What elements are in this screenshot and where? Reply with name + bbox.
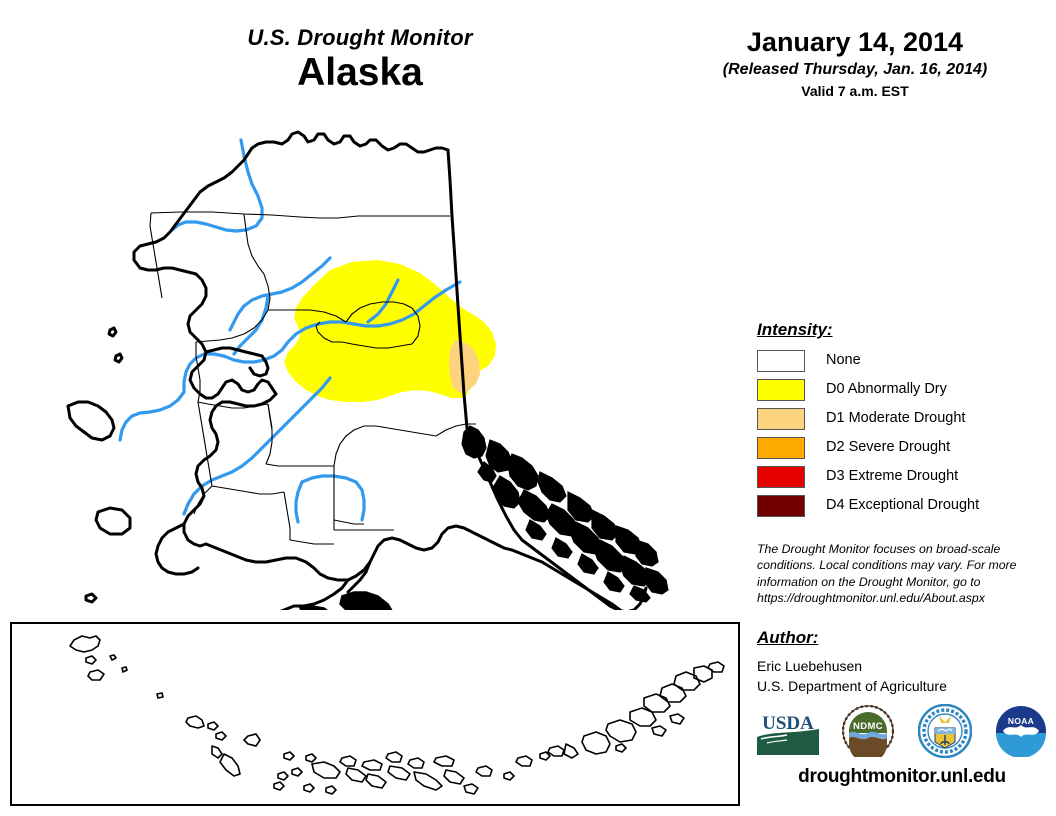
svg-text:USDA: USDA [762,713,814,734]
legend-swatch-d1 [757,408,805,430]
legend-row-d1[interactable]: D1 Moderate Drought [757,404,1047,433]
region-title: Alaska [150,51,570,95]
noaa-logo[interactable]: NOAA [995,705,1047,762]
legend-label-d0: D0 Abnormally Dry [826,382,947,397]
ndmc-logo[interactable]: NDMC [842,705,894,762]
legend-row-none[interactable]: None [757,346,1047,375]
release-date: (Released Thursday, Jan. 16, 2014) [690,59,1020,81]
kodiak-island [300,592,394,610]
disclaimer-text: The Drought Monitor focuses on broad-sca… [757,541,1047,606]
legend-row-d3[interactable]: D3 Extreme Drought [757,462,1047,491]
author-affiliation: U.S. Department of Agriculture [757,677,1047,697]
author-name: Eric Luebehusen [757,657,1047,677]
usda-logo[interactable]: USDA [757,707,819,760]
map-date: January 14, 2014 [690,28,1020,58]
legend-title: Intensity: [757,320,1047,340]
date-block: January 14, 2014 (Released Thursday, Jan… [690,28,1020,101]
author-block: Author: Eric Luebehusen U.S. Department … [757,628,1047,697]
disclaimer-line-1: The Drought Monitor focuses on broad-sca… [757,541,1047,557]
svg-text:NDMC: NDMC [853,721,883,732]
disclaimer-line-3: information on the Drought Monitor, go t… [757,574,1047,590]
legend-row-d2[interactable]: D2 Severe Drought [757,433,1047,462]
agency-logos: USDA NDMC [757,704,1047,762]
legend-swatch-none [757,350,805,372]
legend-swatch-d2 [757,437,805,459]
disclaimer-link[interactable]: https://droughtmonitor.unl.edu/About.asp… [757,590,1047,606]
aleutian-island-chain [70,636,724,794]
legend-label-d1: D1 Moderate Drought [826,411,965,426]
intensity-legend: Intensity: None D0 Abnormally Dry D1 Mod… [757,320,1047,520]
offshore-islands [68,328,130,610]
site-url[interactable]: droughtmonitor.unl.edu [757,766,1047,788]
alaska-peninsula [236,606,296,610]
author-title: Author: [757,628,1047,648]
legend-label-none: None [826,353,861,368]
legend-swatch-d0 [757,379,805,401]
aleutian-islands-inset[interactable] [10,622,740,806]
legend-row-d0[interactable]: D0 Abnormally Dry [757,375,1047,404]
disclaimer-line-2: conditions. Local conditions may vary. F… [757,557,1047,573]
legend-label-d2: D2 Severe Drought [826,440,950,455]
legend-swatch-d4 [757,495,805,517]
svg-text:NOAA: NOAA [1008,716,1034,726]
drought-monitor-title: U.S. Drought Monitor [150,26,570,49]
alaska-drought-map[interactable] [0,110,740,610]
noaa-commerce-logo[interactable] [918,704,972,763]
legend-label-d4: D4 Exceptional Drought [826,498,979,513]
valid-time: Valid 7 a.m. EST [690,82,1020,101]
legend-row-d4[interactable]: D4 Exceptional Drought [757,491,1047,520]
legend-label-d3: D3 Extreme Drought [826,469,958,484]
title-block: U.S. Drought Monitor Alaska [150,26,570,95]
legend-swatch-d3 [757,466,805,488]
